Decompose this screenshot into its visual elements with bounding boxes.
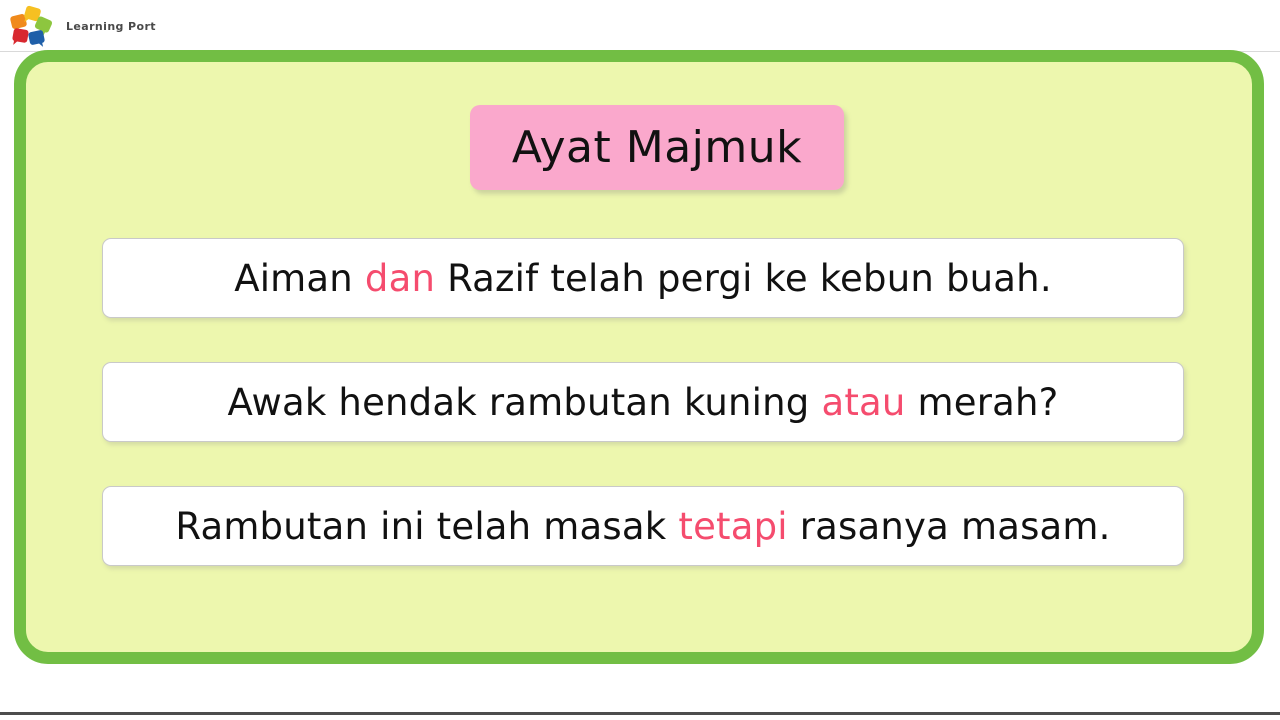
sentence-text-after: Razif telah pergi ke kebun buah. xyxy=(435,257,1052,300)
learning-port-pinwheel-logo-icon xyxy=(10,6,52,46)
sentence-card: Aiman dan Razif telah pergi ke kebun bua… xyxy=(102,238,1184,318)
sentence-text-before: Rambutan ini telah masak xyxy=(175,505,678,548)
logo-bubble-red-icon xyxy=(12,28,29,43)
content-panel-inner: Ayat Majmuk Aiman dan Razif telah pergi … xyxy=(26,62,1252,652)
sentence-text-before: Aiman xyxy=(234,257,365,300)
sentence-card: Awak hendak rambutan kuning atau merah? xyxy=(102,362,1184,442)
brand-name: Learning Port xyxy=(66,20,156,33)
content-panel: Ayat Majmuk Aiman dan Razif telah pergi … xyxy=(14,50,1264,664)
sentence-text-before: Awak hendak rambutan kuning xyxy=(227,381,821,424)
bottom-divider xyxy=(0,712,1280,715)
page-title: Ayat Majmuk xyxy=(512,126,802,170)
sentence-text: Aiman dan Razif telah pergi ke kebun bua… xyxy=(234,260,1052,297)
conjunction-keyword: dan xyxy=(365,257,435,300)
sentence-card: Rambutan ini telah masak tetapi rasanya … xyxy=(102,486,1184,566)
sentence-card-list: Aiman dan Razif telah pergi ke kebun bua… xyxy=(102,238,1184,610)
sentence-text: Rambutan ini telah masak tetapi rasanya … xyxy=(175,508,1110,545)
sentence-text: Awak hendak rambutan kuning atau merah? xyxy=(227,384,1058,421)
conjunction-keyword: tetapi xyxy=(678,505,787,548)
logo-bubble-blue-icon xyxy=(28,30,45,46)
header-bar: Learning Port xyxy=(0,0,1280,52)
conjunction-keyword: atau xyxy=(821,381,905,424)
sentence-text-after: merah? xyxy=(906,381,1059,424)
page-title-chip: Ayat Majmuk xyxy=(470,105,844,190)
sentence-text-after: rasanya masam. xyxy=(788,505,1111,548)
slide-root: Learning Port Ayat Majmuk Aiman dan Razi… xyxy=(0,0,1280,720)
